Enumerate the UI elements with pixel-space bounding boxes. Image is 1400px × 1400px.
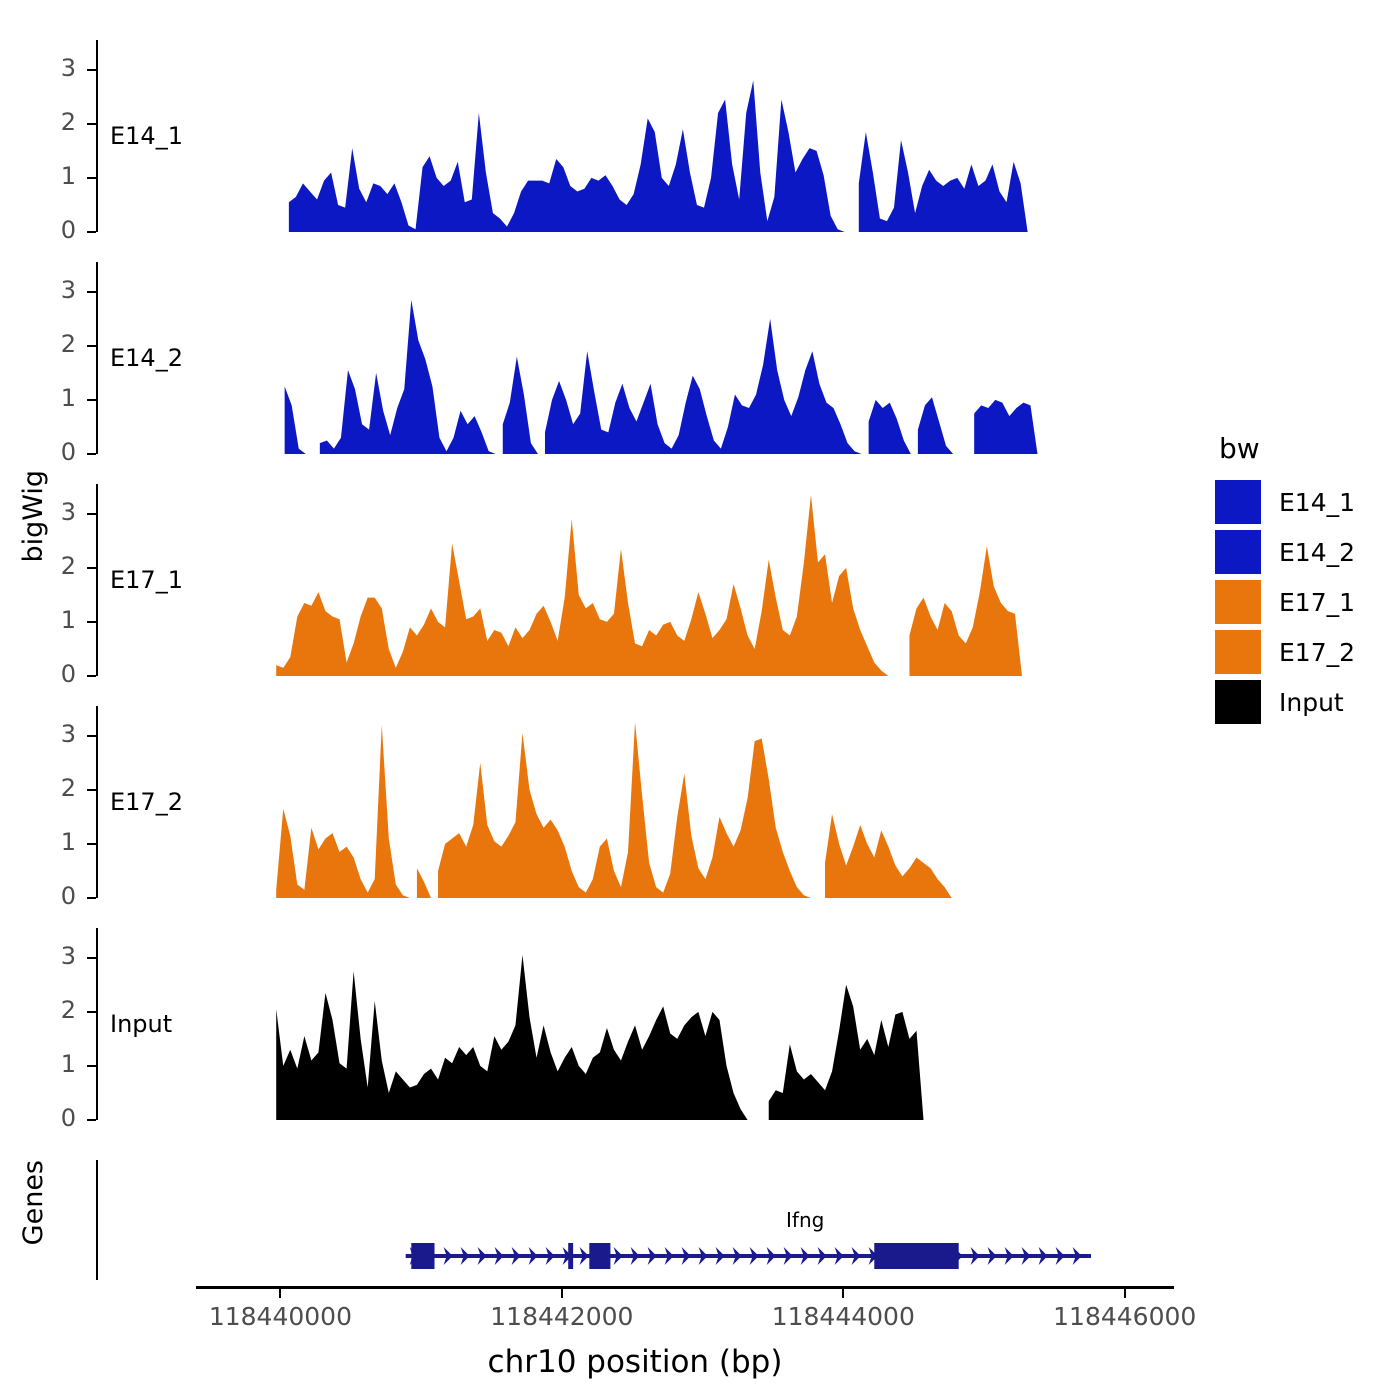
gene-model-svg bbox=[196, 1160, 1176, 1280]
signal-area-svg bbox=[196, 262, 1174, 454]
y-tick bbox=[87, 735, 96, 737]
track-name-label: E14_1 bbox=[110, 122, 183, 150]
y-tick bbox=[87, 177, 96, 179]
y-tick bbox=[87, 567, 96, 569]
track-name-label: E14_2 bbox=[110, 344, 183, 372]
legend-color-swatch bbox=[1215, 580, 1261, 624]
y-tick bbox=[87, 1065, 96, 1067]
gene-intron-line bbox=[406, 1254, 1091, 1258]
y-tick bbox=[87, 453, 96, 455]
track-name-label: Input bbox=[110, 1010, 172, 1038]
y-tick-label: 2 bbox=[26, 330, 76, 358]
y-tick bbox=[87, 1011, 96, 1013]
y-tick-label: 1 bbox=[26, 828, 76, 856]
track-panel-e14_1: 0123E14_1 bbox=[96, 40, 1174, 232]
y-tick-label: 3 bbox=[26, 54, 76, 82]
genes-panel: Ifng bbox=[96, 1160, 1176, 1280]
y-axis-line bbox=[96, 484, 98, 676]
track-name-label: E17_2 bbox=[110, 788, 183, 816]
x-tick-label: 118446000 bbox=[1015, 1302, 1235, 1331]
y-tick-label: 1 bbox=[26, 162, 76, 190]
gene-model-plot[interactable] bbox=[196, 1160, 1176, 1280]
y-tick bbox=[87, 897, 96, 899]
y-axis-line bbox=[96, 706, 98, 898]
x-axis: 118440000118442000118444000118446000 chr… bbox=[0, 1286, 1400, 1396]
signal-segment bbox=[276, 725, 410, 898]
y-tick bbox=[87, 231, 96, 233]
signal-segment bbox=[289, 81, 845, 232]
legend-item-label: E17_1 bbox=[1279, 588, 1355, 617]
y-tick-label: 0 bbox=[26, 216, 76, 244]
signal-segment bbox=[503, 357, 538, 454]
signal-segment bbox=[918, 397, 953, 454]
signal-segment bbox=[276, 495, 888, 676]
x-tick bbox=[842, 1289, 844, 1298]
track-panel-input: 0123Input bbox=[96, 928, 1174, 1120]
gene-exon-block[interactable] bbox=[589, 1243, 610, 1269]
legend-item-e14_2[interactable]: E14_2 bbox=[1215, 529, 1355, 575]
signal-area-svg bbox=[196, 40, 1174, 232]
y-axis-title-genes: Genes bbox=[18, 1160, 49, 1245]
y-tick bbox=[87, 1119, 96, 1121]
legend-item-e17_2[interactable]: E17_2 bbox=[1215, 629, 1355, 675]
y-tick-label: 1 bbox=[26, 1050, 76, 1078]
signal-segment bbox=[417, 868, 431, 898]
signal-segment bbox=[438, 722, 811, 898]
y-tick-label: 3 bbox=[26, 720, 76, 748]
legend-color-swatch bbox=[1215, 630, 1261, 674]
x-axis-label: chr10 position (bp) bbox=[0, 1344, 1270, 1380]
y-tick-label: 2 bbox=[26, 108, 76, 136]
x-tick bbox=[1124, 1289, 1126, 1298]
y-tick-label: 2 bbox=[26, 996, 76, 1024]
y-tick bbox=[87, 291, 96, 293]
signal-plot-e14_2[interactable] bbox=[196, 262, 1174, 454]
signal-area-svg bbox=[196, 928, 1174, 1120]
y-tick bbox=[87, 621, 96, 623]
signal-segment bbox=[974, 400, 1037, 454]
y-axis-line bbox=[96, 928, 98, 1120]
y-tick-label: 0 bbox=[26, 660, 76, 688]
y-tick bbox=[87, 69, 96, 71]
signal-segment bbox=[545, 319, 862, 454]
y-tick bbox=[87, 123, 96, 125]
gene-label: Ifng bbox=[786, 1208, 824, 1232]
track-panel-e17_2: 0123E17_2 bbox=[96, 706, 1174, 898]
x-tick bbox=[279, 1289, 281, 1298]
signal-segment bbox=[859, 132, 1028, 232]
signal-segment bbox=[276, 955, 747, 1120]
gene-exon-block[interactable] bbox=[874, 1243, 958, 1269]
y-tick-label: 1 bbox=[26, 384, 76, 412]
signal-segment bbox=[769, 985, 924, 1120]
signal-plot-e17_2[interactable] bbox=[196, 706, 1174, 898]
x-tick-label: 118444000 bbox=[733, 1302, 953, 1331]
track-panel-e17_1: 0123E17_1 bbox=[96, 484, 1174, 676]
legend-item-label: E17_2 bbox=[1279, 638, 1355, 667]
x-tick bbox=[561, 1289, 563, 1298]
y-tick bbox=[87, 345, 96, 347]
legend: bw E14_1E14_2E17_1E17_2Input bbox=[1215, 432, 1355, 729]
legend-color-swatch bbox=[1215, 530, 1261, 574]
y-tick bbox=[87, 843, 96, 845]
signal-area-svg bbox=[196, 484, 1174, 676]
signal-segment bbox=[869, 400, 911, 454]
track-panel-e14_2: 0123E14_2 bbox=[96, 262, 1174, 454]
y-tick-label: 0 bbox=[26, 1104, 76, 1132]
y-tick bbox=[87, 513, 96, 515]
track-name-label: E17_1 bbox=[110, 566, 183, 594]
signal-area-svg bbox=[196, 706, 1174, 898]
y-tick-label: 2 bbox=[26, 774, 76, 802]
signal-plot-e14_1[interactable] bbox=[196, 40, 1174, 232]
y-tick-label: 0 bbox=[26, 882, 76, 910]
genome-browser-figure: bigWig Genes 0123E14_10123E14_20123E17_1… bbox=[0, 0, 1400, 1400]
legend-item-e14_1[interactable]: E14_1 bbox=[1215, 479, 1355, 525]
legend-color-swatch bbox=[1215, 680, 1261, 724]
gene-exon-block[interactable] bbox=[411, 1243, 434, 1269]
genes-axis-line bbox=[96, 1160, 98, 1280]
y-tick-label: 3 bbox=[26, 498, 76, 526]
y-tick bbox=[87, 789, 96, 791]
y-tick-label: 3 bbox=[26, 942, 76, 970]
x-tick-label: 118442000 bbox=[452, 1302, 672, 1331]
y-tick-label: 1 bbox=[26, 606, 76, 634]
legend-title: bw bbox=[1219, 432, 1355, 465]
y-tick-label: 2 bbox=[26, 552, 76, 580]
signal-segment bbox=[909, 546, 1022, 676]
y-tick bbox=[87, 957, 96, 959]
x-tick-label: 118440000 bbox=[170, 1302, 390, 1331]
legend-item-label: E14_1 bbox=[1279, 488, 1355, 517]
legend-item-label: Input bbox=[1279, 688, 1344, 717]
signal-segment bbox=[285, 386, 306, 454]
y-tick bbox=[87, 675, 96, 677]
y-tick bbox=[87, 399, 96, 401]
legend-items: E14_1E14_2E17_1E17_2Input bbox=[1215, 479, 1355, 725]
signal-plot-e17_1[interactable] bbox=[196, 484, 1174, 676]
signal-plot-input[interactable] bbox=[196, 928, 1174, 1120]
signal-segment bbox=[825, 814, 952, 898]
y-tick-label: 3 bbox=[26, 276, 76, 304]
x-axis-line bbox=[196, 1286, 1174, 1289]
gene-exon-block[interactable] bbox=[568, 1243, 573, 1269]
y-axis-line bbox=[96, 40, 98, 232]
legend-color-swatch bbox=[1215, 480, 1261, 524]
signal-segment bbox=[320, 300, 496, 454]
y-tick-label: 0 bbox=[26, 438, 76, 466]
legend-item-label: E14_2 bbox=[1279, 538, 1355, 567]
legend-item-e17_1[interactable]: E17_1 bbox=[1215, 579, 1355, 625]
legend-item-input[interactable]: Input bbox=[1215, 679, 1355, 725]
y-axis-line bbox=[96, 262, 98, 454]
